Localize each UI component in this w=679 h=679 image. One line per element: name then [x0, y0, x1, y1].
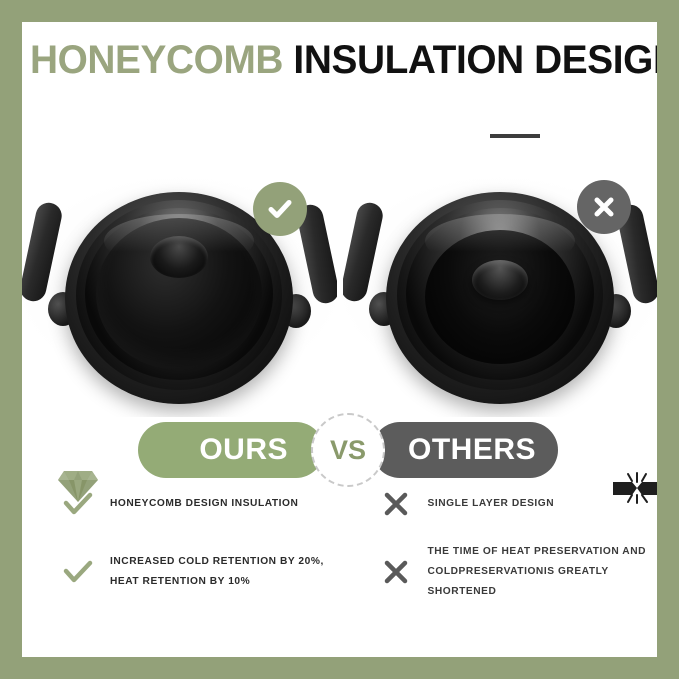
feature-ours-2: INCREASED COLD RETENTION BY 20%, HEAT RE… [22, 542, 340, 602]
feature-ours-text-1: HONEYCOMB DESIGN INSULATION [100, 494, 298, 514]
others-product-photo [343, 174, 658, 417]
feature-line: HONEYCOMB DESIGN INSULATION [110, 494, 298, 514]
pot-lid-vent-hole [150, 236, 208, 278]
others-cross-badge [577, 180, 631, 234]
feature-ours-1: HONEYCOMB DESIGN INSULATION [22, 492, 340, 516]
feature-others-text-1: SINGLE LAYER DESIGN [418, 494, 555, 514]
check-icon [56, 492, 100, 516]
ours-label-pill: OURS [138, 422, 324, 478]
feature-line: HEAT RETENTION BY 10% [110, 572, 324, 592]
page-title: HONEYCOMB INSULATION DESIGN [30, 40, 636, 80]
feature-line: SINGLE LAYER DESIGN [428, 494, 555, 514]
title-highlight: HONEYCOMB [30, 38, 283, 82]
vs-badge: VS [311, 413, 385, 487]
poster-canvas: HONEYCOMB INSULATION DESIGN [22, 22, 657, 657]
comparison-banner: OURS OTHERS VS [138, 422, 558, 478]
check-icon [265, 194, 295, 224]
title-divider [490, 134, 540, 138]
cross-icon [374, 492, 418, 516]
pot-handle-left [22, 200, 64, 303]
check-icon [56, 560, 100, 584]
feature-ours-text-2: INCREASED COLD RETENTION BY 20%, HEAT RE… [100, 552, 324, 592]
product-photo-band [22, 174, 657, 417]
pot-lid-knob [472, 260, 528, 300]
feature-line: COLDPRESERVATIONIS GREATLY SHORTENED [428, 562, 658, 602]
pot-handle-left [343, 200, 385, 303]
feature-line: THE TIME OF HEAT PRESERVATION AND [428, 542, 658, 562]
cross-icon [374, 560, 418, 584]
feature-line: INCREASED COLD RETENTION BY 20%, [110, 552, 324, 572]
others-label-pill: OTHERS [372, 422, 558, 478]
ours-product-photo [22, 174, 337, 417]
feature-comparison-list: HONEYCOMB DESIGN INSULATION SINGLE LAYER… [22, 492, 657, 628]
vs-label: VS [330, 435, 366, 466]
feature-others-1: SINGLE LAYER DESIGN [340, 492, 658, 516]
feature-others-text-2: THE TIME OF HEAT PRESERVATION AND COLDPR… [418, 542, 658, 602]
others-label: OTHERS [408, 433, 536, 467]
cross-icon [590, 193, 618, 221]
feature-row: INCREASED COLD RETENTION BY 20%, HEAT RE… [22, 542, 657, 602]
ours-check-badge [253, 182, 307, 236]
feature-others-2: THE TIME OF HEAT PRESERVATION AND COLDPR… [340, 542, 658, 602]
ours-label: OURS [199, 433, 288, 467]
title-rest: INSULATION DESIGN [283, 38, 657, 82]
poster-frame: HONEYCOMB INSULATION DESIGN [0, 0, 679, 679]
feature-row: HONEYCOMB DESIGN INSULATION SINGLE LAYER… [22, 492, 657, 516]
